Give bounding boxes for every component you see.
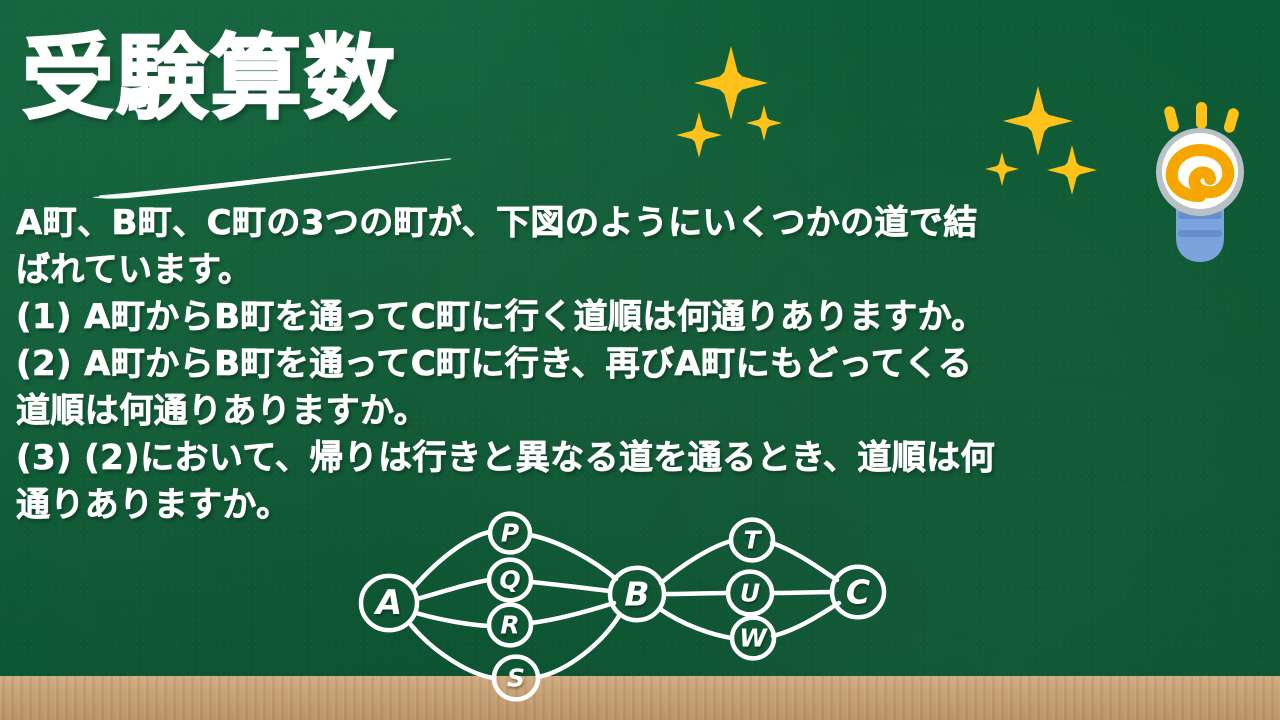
road-graph-svg	[350, 495, 910, 720]
chalkboard-slide: 受験算数 A町、B町、C町の3つの町が、下図のようにいくつかの道で結 ばれていま…	[0, 0, 1280, 720]
graph-edge-r-b	[531, 603, 614, 623]
graph-node-s	[494, 657, 538, 700]
graph-edge-a-p	[414, 532, 490, 587]
graph-node-t	[731, 520, 773, 561]
graph-node-c	[832, 567, 884, 617]
graph-edges	[411, 532, 839, 678]
graph-node-q	[489, 560, 531, 601]
graph-edge-p-b	[530, 535, 616, 579]
sparkle-shape	[985, 152, 1019, 186]
graph-node-w	[732, 618, 774, 659]
graph-node-p	[490, 514, 530, 553]
graph-node-a	[361, 576, 417, 630]
graph-edge-a-s	[411, 625, 494, 678]
graph-edge-u-c	[772, 592, 832, 593]
graph-edge-a-r	[416, 613, 489, 626]
lightbulb-icon	[1140, 100, 1260, 270]
graph-edge-a-q	[417, 580, 489, 599]
graph-edge-w-c	[773, 603, 839, 636]
graph-edge-b-w	[660, 609, 732, 638]
sparkle-icon	[1047, 145, 1097, 195]
graph-node-b	[610, 568, 664, 620]
graph-edge-s-b	[538, 616, 619, 677]
sparkle-icon	[985, 152, 1019, 186]
graph-edge-b-t	[661, 541, 731, 583]
graph-edge-q-b	[531, 582, 610, 591]
graph-nodes	[361, 514, 884, 700]
sparkle-shape	[1047, 145, 1097, 195]
graph-edge-t-c	[772, 543, 837, 580]
road-graph-diagram: APQRSBTUWC	[350, 495, 910, 720]
graph-node-u	[728, 572, 772, 615]
graph-edge-b-u	[664, 593, 728, 594]
graph-node-r	[489, 605, 531, 646]
